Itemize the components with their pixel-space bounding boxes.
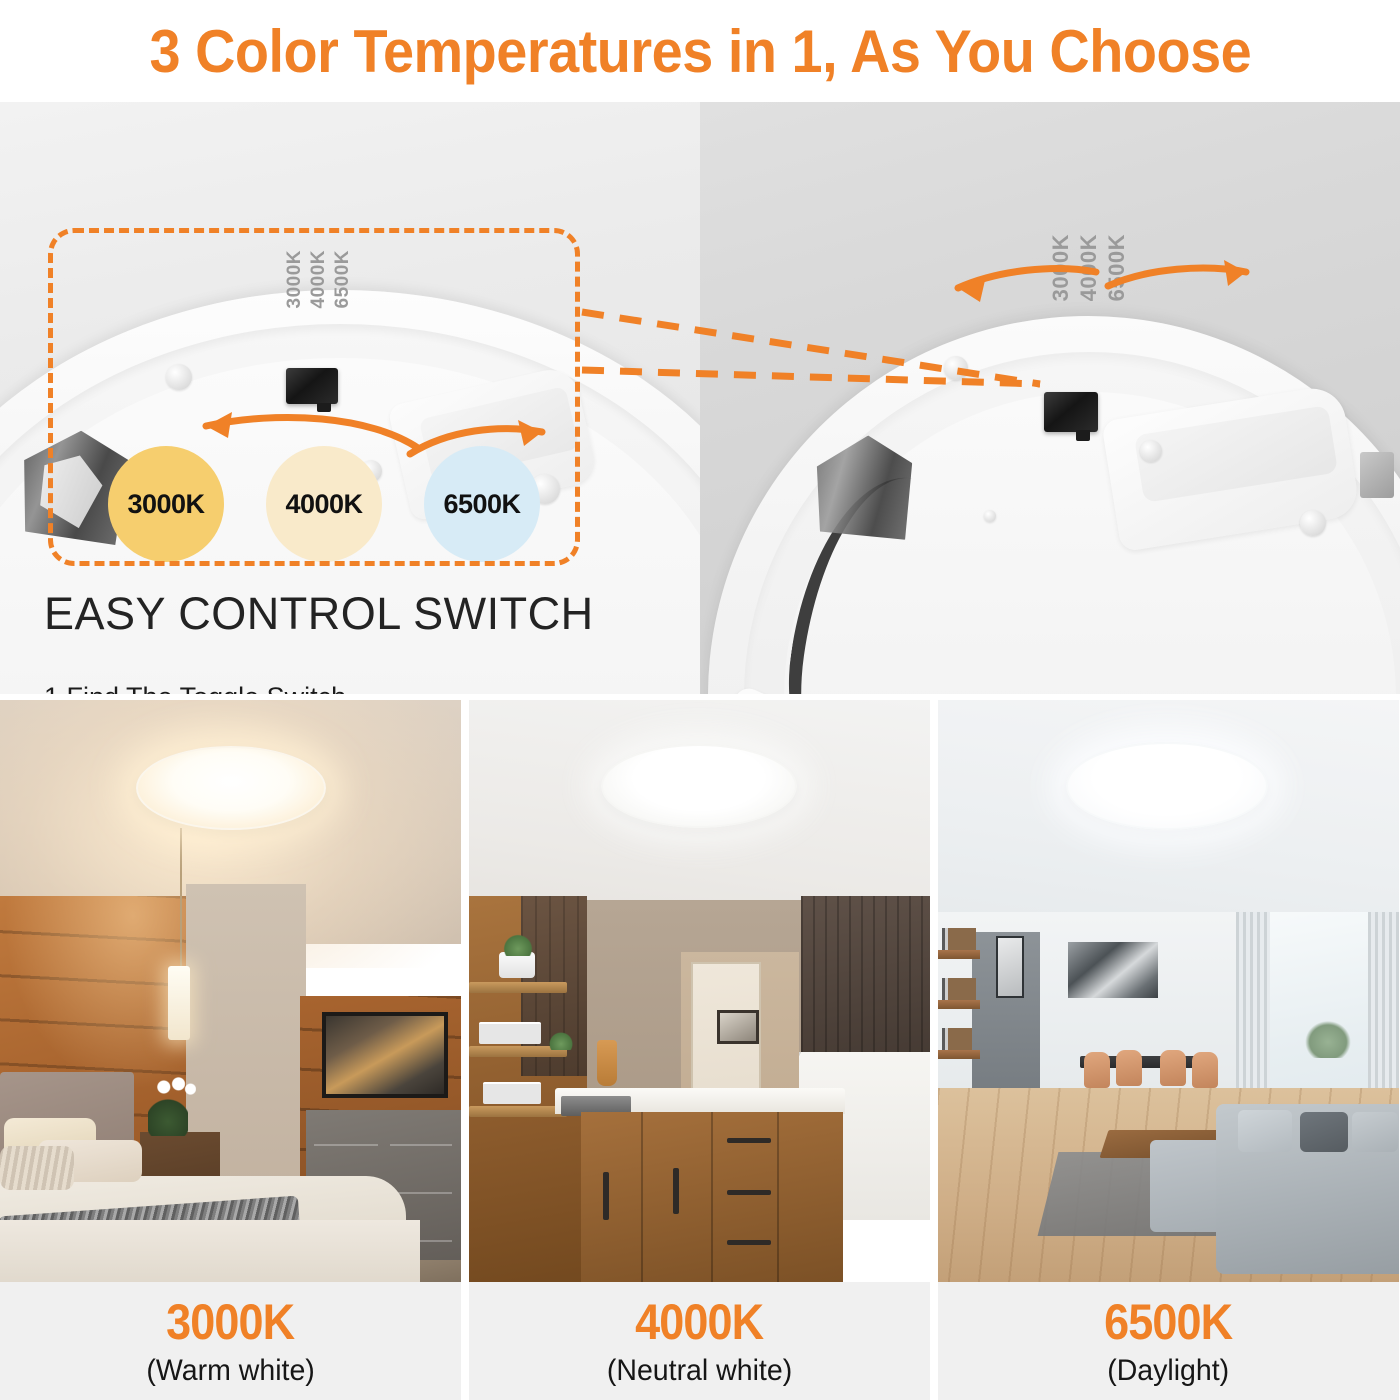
caption-6500k: 6500K (Daylight) <box>938 1282 1399 1400</box>
kitchen-picture-frame <box>717 1010 759 1044</box>
dining-chair <box>1116 1050 1142 1086</box>
cabinet-handle <box>727 1138 771 1143</box>
caption-row: 3000K (Warm white) 4000K (Neutral white)… <box>0 1282 1400 1400</box>
instruction-step-1: 1.Find The Toggle Switch <box>44 682 684 694</box>
switch-diagram-section: 3000K 4000K 6500K 3000K 4000K 6500K <box>0 102 1400 694</box>
toggle-switch[interactable] <box>286 368 338 404</box>
bedroom-bed-foot <box>0 1220 420 1282</box>
bedroom-wall-glow <box>0 896 190 1096</box>
kitchen-right-upper-cabinet <box>801 896 930 1060</box>
fixture-screw <box>1300 510 1326 536</box>
fixture-screw <box>166 364 192 390</box>
ceiling-light-fixture <box>136 746 326 830</box>
livingroom-outdoor-greenery <box>1302 1018 1354 1058</box>
kitchen-plant <box>501 932 535 956</box>
livingroom-books <box>942 928 976 950</box>
printed-label-3000k: 3000K <box>1048 234 1074 301</box>
cabinet-handle <box>603 1172 609 1220</box>
caption-4000k: 4000K (Neutral white) <box>469 1282 930 1400</box>
fixture-printed-kelvin-labels: 3000K 4000K 6500K <box>284 250 354 309</box>
cabinet-seam <box>641 1112 643 1282</box>
dining-chair <box>1192 1052 1218 1088</box>
page-title: 3 Color Temperatures in 1, As You Choose <box>149 17 1251 86</box>
dresser-handle <box>314 1144 378 1146</box>
livingroom-shelf <box>938 1000 980 1009</box>
bedroom-pillow <box>0 1146 74 1190</box>
bedroom-pendant-lamp <box>168 966 190 1040</box>
kelvin-bubble-6500k[interactable]: 6500K <box>424 446 540 562</box>
bedroom-orchid <box>150 1074 196 1100</box>
livingroom-small-artwork <box>996 936 1024 998</box>
livingroom-shelf <box>938 950 980 959</box>
kitchen-copper-vase <box>597 1040 617 1086</box>
livingroom-books <box>942 978 976 1000</box>
caption-kelvin: 3000K <box>166 1297 294 1348</box>
bedroom-wall-art <box>322 1012 448 1098</box>
cabinet-handle <box>727 1240 771 1245</box>
room-scene-6500k <box>938 700 1399 1282</box>
kelvin-bubble-group: 3000K 4000K 6500K <box>108 446 556 564</box>
kelvin-bubble-label: 4000K <box>285 489 362 520</box>
fixture-screw <box>984 510 996 522</box>
caption-3000k: 3000K (Warm white) <box>0 1282 461 1400</box>
caption-kelvin: 6500K <box>1104 1297 1232 1348</box>
printed-label-4000k: 4000K <box>308 250 330 309</box>
kelvin-bubble-label: 3000K <box>127 489 204 520</box>
kitchen-succulent <box>547 1030 575 1050</box>
fixture-screw <box>1140 440 1162 462</box>
title-bar: 3 Color Temperatures in 1, As You Choose <box>0 0 1400 102</box>
room-scene-row <box>0 694 1400 1282</box>
fixture-screw <box>944 356 968 380</box>
caption-name: (Daylight) <box>1108 1354 1230 1388</box>
cabinet-handle <box>673 1168 679 1214</box>
kelvin-bubble-label: 6500K <box>443 489 520 520</box>
kelvin-bubble-4000k[interactable]: 4000K <box>266 446 382 562</box>
switch-closeup-panel: 3000K 4000K 6500K 3000K 4000K 6500K <box>0 102 700 694</box>
sofa-cushion <box>1352 1112 1398 1152</box>
dresser-handle <box>390 1144 452 1146</box>
ceiling-light-fixture <box>601 744 797 828</box>
toggle-switch[interactable] <box>1044 392 1098 432</box>
printed-label-4000k: 4000K <box>1076 234 1102 301</box>
kitchen-open-shelf <box>469 1106 567 1117</box>
fixture-printed-kelvin-labels: 3000K 4000K 6500K <box>1048 234 1130 301</box>
kelvin-bubble-3000k[interactable]: 3000K <box>108 446 224 562</box>
cabinet-handle <box>727 1190 771 1195</box>
cabinet-seam <box>711 1112 713 1282</box>
kitchen-lower-cabinets <box>581 1112 843 1282</box>
bedroom-pendant-cord <box>180 828 182 968</box>
caption-kelvin: 4000K <box>635 1297 763 1348</box>
fixture-overview-panel: 3000K 4000K 6500K <box>700 102 1400 694</box>
cabinet-seam <box>777 1112 779 1282</box>
kitchen-dish-stack <box>479 1022 541 1044</box>
dining-chair <box>1084 1052 1110 1088</box>
kitchen-open-shelf <box>469 982 567 993</box>
sofa-cushion <box>1238 1110 1292 1152</box>
caption-name: (Warm white) <box>146 1354 314 1388</box>
printed-label-3000k: 3000K <box>284 250 306 309</box>
printed-label-6500k: 6500K <box>1104 234 1130 301</box>
sofa-cushion-dark <box>1300 1112 1348 1152</box>
room-scene-4000k <box>469 700 930 1282</box>
kitchen-dish-stack <box>483 1082 541 1104</box>
ceiling-light-fixture <box>1066 742 1268 830</box>
instructions-block: EASY CONTROL SWITCH 1.Find The Toggle Sw… <box>44 588 684 694</box>
livingroom-books <box>942 1028 972 1050</box>
instructions-heading: EASY CONTROL SWITCH <box>44 588 684 640</box>
dining-chair <box>1160 1050 1186 1086</box>
fixture-edge-tab <box>1360 452 1394 498</box>
caption-name: (Neutral white) <box>607 1354 792 1388</box>
room-scene-3000k <box>0 700 461 1282</box>
printed-label-6500k: 6500K <box>332 250 354 309</box>
livingroom-large-artwork <box>1068 942 1158 998</box>
livingroom-shelf <box>938 1050 980 1059</box>
